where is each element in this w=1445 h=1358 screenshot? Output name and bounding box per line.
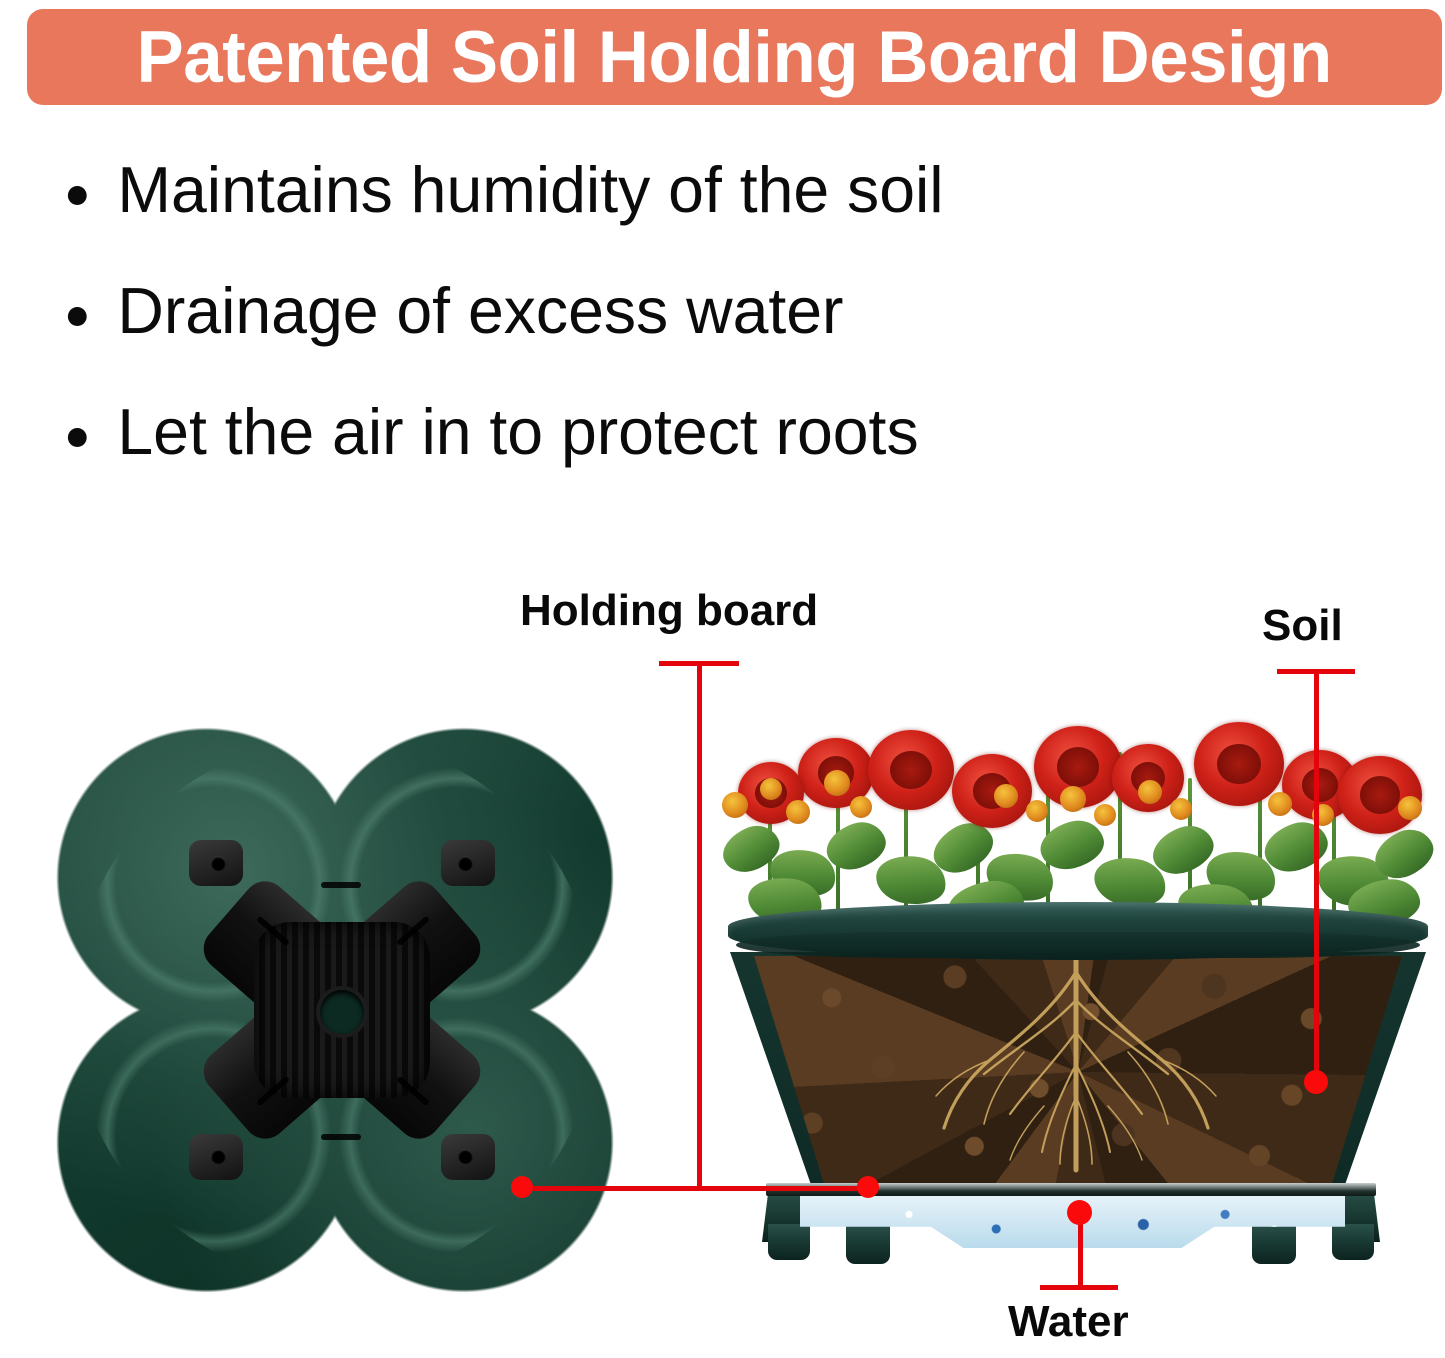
board-vent-slot bbox=[321, 882, 361, 888]
pot-foot bbox=[846, 1224, 890, 1264]
flower-bud bbox=[1268, 792, 1292, 816]
list-item: Let the air in to protect roots bbox=[56, 392, 1145, 472]
water-leader-stem bbox=[1078, 1216, 1083, 1288]
holding-board-anchor-dot-left bbox=[511, 1176, 533, 1198]
board-tab-hole bbox=[211, 856, 226, 871]
bullet-icon bbox=[68, 428, 87, 447]
soil-leader-stem bbox=[1314, 669, 1319, 1079]
flower-bud bbox=[1060, 786, 1086, 812]
soil-anchor-dot bbox=[1304, 1070, 1328, 1094]
feature-list: Maintains humidity of the soil Drainage … bbox=[56, 150, 1156, 513]
flower-bud bbox=[824, 770, 850, 796]
flower-bud bbox=[994, 784, 1018, 808]
feature-text: Drainage of excess water bbox=[117, 274, 843, 347]
flower-bud bbox=[1026, 800, 1048, 822]
callout-label-soil: Soil bbox=[1262, 600, 1343, 652]
header-banner: Patented Soil Holding Board Design bbox=[27, 9, 1442, 105]
flower-bloom bbox=[868, 730, 954, 810]
holding-board-anchor-dot-right bbox=[857, 1176, 879, 1198]
water-leader-tee bbox=[1040, 1285, 1118, 1290]
pot-foot bbox=[1332, 1224, 1374, 1260]
flower-bud bbox=[1094, 804, 1116, 826]
flower-bud bbox=[1170, 798, 1192, 820]
pot-foot bbox=[1252, 1224, 1296, 1264]
water-anchor-dot bbox=[1067, 1200, 1092, 1225]
flower-bud bbox=[1398, 796, 1422, 820]
flower-bud bbox=[850, 796, 872, 818]
flower-bud bbox=[786, 800, 810, 824]
callout-label-water: Water bbox=[1008, 1296, 1129, 1348]
flower-bud bbox=[760, 778, 782, 800]
bullet-icon bbox=[68, 307, 87, 326]
flower-bud bbox=[1138, 780, 1162, 804]
callout-label-holding-board: Holding board bbox=[520, 585, 818, 637]
holding-board-leader-stem bbox=[697, 661, 702, 1189]
flower-foliage bbox=[708, 700, 1438, 932]
drain-hole bbox=[320, 990, 364, 1034]
flower-bud bbox=[722, 792, 748, 818]
board-vent-slot bbox=[321, 1134, 361, 1140]
board-tab-hole bbox=[458, 856, 473, 871]
product-image-top-view bbox=[55, 722, 615, 1298]
bullet-icon bbox=[68, 186, 87, 205]
holding-board-leader-link bbox=[521, 1186, 871, 1191]
flower-bloom bbox=[952, 754, 1032, 828]
board-tab-hole bbox=[211, 1149, 226, 1164]
page-title: Patented Soil Holding Board Design bbox=[137, 21, 1332, 94]
board-tab-hole bbox=[458, 1149, 473, 1164]
flower-bloom bbox=[1338, 756, 1422, 834]
pot-foot bbox=[768, 1224, 810, 1260]
holding-board-insert bbox=[193, 842, 491, 1178]
list-item: Maintains humidity of the soil bbox=[56, 150, 1145, 230]
feature-text: Maintains humidity of the soil bbox=[117, 153, 943, 226]
list-item: Drainage of excess water bbox=[56, 271, 1145, 351]
feature-text: Let the air in to protect roots bbox=[117, 395, 918, 468]
plant-roots bbox=[754, 956, 1402, 1188]
flower-bloom bbox=[1194, 722, 1284, 806]
